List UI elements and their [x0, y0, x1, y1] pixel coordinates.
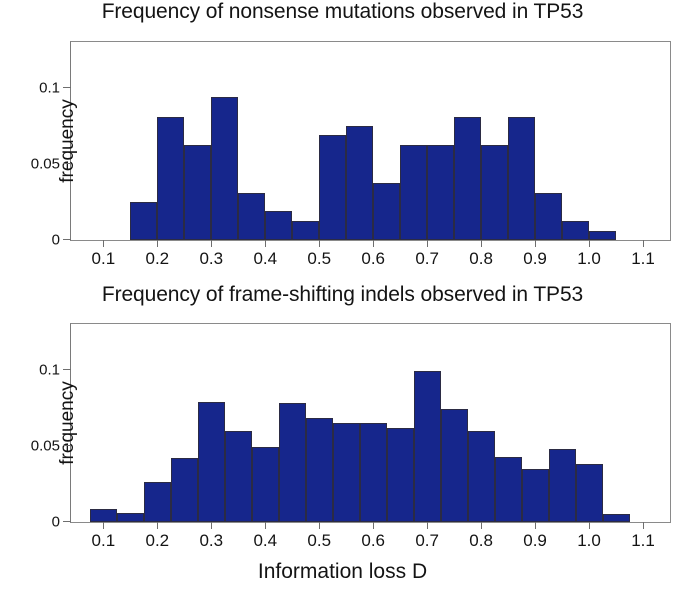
bar [238, 193, 265, 240]
x-axis-tick [103, 522, 104, 529]
bar [211, 97, 238, 240]
y-axis-tick [63, 87, 71, 88]
bar [198, 402, 225, 522]
bar [522, 469, 549, 522]
x-axis-tick [535, 240, 536, 247]
x-axis-tick-label: 0.3 [199, 249, 223, 269]
y-axis-tick [63, 163, 71, 164]
y-axis-tick [63, 445, 71, 446]
x-axis-tick [535, 522, 536, 529]
bar [225, 431, 252, 522]
bar [468, 431, 495, 522]
bar [549, 449, 576, 522]
bar [319, 135, 346, 240]
x-axis-tick-label: 0.8 [469, 249, 493, 269]
bar [535, 193, 562, 240]
x-axis-tick-label: 0.8 [469, 531, 493, 551]
x-axis-tick-label: 0.4 [253, 249, 277, 269]
x-axis-tick-label: 0.1 [92, 531, 116, 551]
bar [157, 117, 184, 240]
chart-title-bottom: Frequency of frame-shifting indels obser… [0, 283, 685, 307]
x-axis-tick-label: 0.6 [361, 249, 385, 269]
bar [184, 145, 211, 240]
x-axis-tick [157, 240, 158, 247]
y-axis-tick-label: 0.05 [31, 437, 60, 454]
x-axis-tick [643, 522, 644, 529]
chart-panel-frame-shifting-indels: Frequency of frame-shifting indels obser… [0, 283, 685, 589]
y-axis-tick-label: 0.1 [39, 361, 60, 378]
x-axis-tick-label: 0.2 [146, 249, 170, 269]
bar [508, 117, 535, 240]
bar [481, 145, 508, 240]
bar-series-top [71, 42, 670, 240]
x-axis-tick [373, 240, 374, 247]
chart-title-top: Frequency of nonsense mutations observed… [0, 0, 685, 24]
plot-area-bottom: frequency 0.10.20.30.40.50.60.70.80.91.0… [70, 323, 671, 523]
x-axis-tick [481, 522, 482, 529]
x-axis-tick-label: 0.7 [415, 531, 439, 551]
bar [454, 117, 481, 240]
bar [171, 458, 198, 522]
x-axis-tick-label: 0.5 [307, 531, 331, 551]
x-axis-tick-label: 1.1 [631, 531, 655, 551]
bar [333, 423, 360, 522]
bar [144, 482, 171, 522]
bar [292, 221, 319, 240]
bar [387, 428, 414, 522]
x-axis-tick [319, 240, 320, 247]
x-axis-tick-label: 0.9 [523, 249, 547, 269]
bar [90, 509, 117, 522]
y-axis-tick-label: 0 [52, 232, 60, 249]
bar [279, 403, 306, 522]
bar [306, 418, 333, 522]
y-axis-tick-label: 0 [52, 514, 60, 531]
x-axis-tick-label: 0.1 [92, 249, 116, 269]
x-axis-tick [427, 240, 428, 247]
x-axis-tick-label: 1.0 [577, 531, 601, 551]
bar [252, 447, 279, 522]
x-axis-tick-label: 0.2 [146, 531, 170, 551]
x-axis-tick-label: 0.6 [361, 531, 385, 551]
bar [414, 371, 441, 522]
x-axis-tick [643, 240, 644, 247]
bar [360, 423, 387, 522]
x-axis-tick [481, 240, 482, 247]
x-axis-tick [265, 522, 266, 529]
bar [441, 409, 468, 522]
x-axis-tick [589, 240, 590, 247]
x-axis-title: Information loss D [0, 560, 685, 584]
x-axis-tick-label: 0.7 [415, 249, 439, 269]
x-axis-tick [211, 522, 212, 529]
x-axis-tick [211, 240, 212, 247]
x-axis-tick-label: 0.3 [199, 531, 223, 551]
bar [576, 464, 603, 522]
figure: Frequency of nonsense mutations observed… [0, 0, 685, 589]
x-axis-tick-label: 0.4 [253, 531, 277, 551]
y-axis-tick-label: 0.05 [31, 155, 60, 172]
bar [117, 513, 144, 522]
x-axis-tick [589, 522, 590, 529]
plot-area-top: frequency 0.10.20.30.40.50.60.70.80.91.0… [70, 41, 671, 241]
bar [495, 457, 522, 522]
x-axis-tick [319, 522, 320, 529]
x-axis-tick [373, 522, 374, 529]
bar [373, 183, 400, 240]
x-axis-tick [103, 240, 104, 247]
x-axis-tick [265, 240, 266, 247]
bar-series-bottom [71, 324, 670, 522]
x-axis-tick-label: 1.1 [631, 249, 655, 269]
y-axis-tick-label: 0.1 [39, 79, 60, 96]
bar [427, 145, 454, 240]
x-axis-tick-label: 0.9 [523, 531, 547, 551]
bar [603, 514, 630, 522]
x-axis-tick [157, 522, 158, 529]
y-axis-tick [63, 521, 71, 522]
bar [400, 145, 427, 240]
y-axis-tick [63, 239, 71, 240]
y-axis-tick [63, 369, 71, 370]
x-axis-tick [427, 522, 428, 529]
bar [562, 221, 589, 240]
x-axis-tick-label: 0.5 [307, 249, 331, 269]
bar [130, 202, 157, 240]
chart-panel-nonsense-mutations: Frequency of nonsense mutations observed… [0, 0, 685, 290]
bar [346, 126, 373, 240]
x-axis-tick-label: 1.0 [577, 249, 601, 269]
bar [265, 211, 292, 240]
bar [589, 231, 616, 240]
